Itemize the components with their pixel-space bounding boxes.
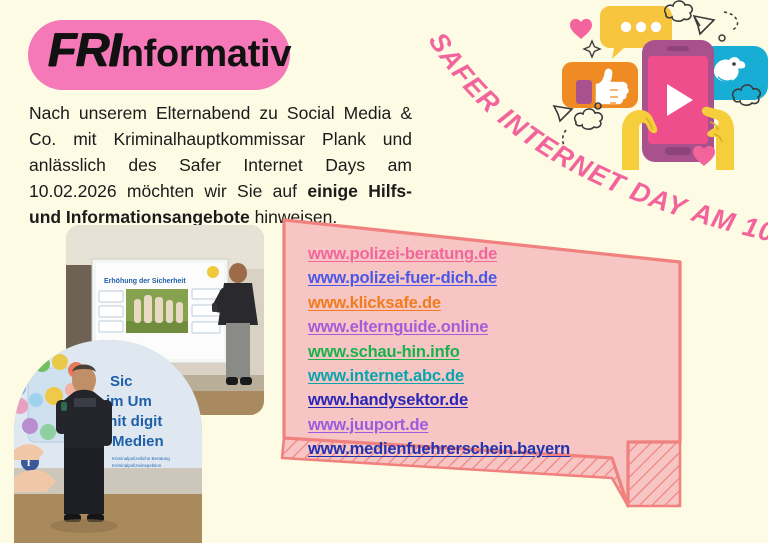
link-polizei-fuer-dich[interactable]: www.polizei-fuer-dich.de <box>308 266 638 290</box>
svg-text:Medien: Medien <box>112 433 164 450</box>
link-schau-hin[interactable]: www.schau-hin.info <box>308 340 638 364</box>
thumbs-up-icon <box>562 62 638 108</box>
svg-text:im Um: im Um <box>106 393 152 410</box>
svg-text:Sic: Sic <box>110 373 133 390</box>
svg-text:Kriminalpolizeiliche Beratung: Kriminalpolizeiliche Beratung <box>112 456 170 461</box>
brand-logo-text: FRInformativ <box>48 26 291 73</box>
link-polizei-beratung[interactable]: www.polizei-beratung.de <box>308 242 638 266</box>
svg-text:Erhöhung der Sicherheit: Erhöhung der Sicherheit <box>104 278 186 285</box>
svg-text:mit digit: mit digit <box>104 413 162 430</box>
logo-fri-part: FRI <box>48 23 121 76</box>
link-medienfuehrerschein[interactable]: www.medienfuehrerschein.bayern <box>308 437 638 461</box>
link-elternguide[interactable]: www.elternguide.online <box>308 315 638 339</box>
photo-police-officer-presenting: f Sic im Um mit digit Medien Kriminalpol… <box>14 340 202 543</box>
logo-informativ-part: nformativ <box>121 33 291 75</box>
sparkle-icon <box>584 41 600 57</box>
cloud-icon <box>575 109 603 129</box>
link-juuport[interactable]: www.juuport.de <box>308 413 638 437</box>
dashed-swoosh <box>563 130 572 152</box>
social-media-smartphone-illustration <box>548 0 768 174</box>
link-handysektor[interactable]: www.handysektor.de <box>308 388 638 412</box>
dashed-swoosh <box>724 12 738 30</box>
paper-plane-icon <box>554 106 572 121</box>
paper-plane-icon <box>694 16 714 34</box>
link-klicksafe[interactable]: www.klicksafe.de <box>308 291 638 315</box>
links-speech-bubble: www.polizei-beratung.de www.polizei-fuer… <box>276 206 696 526</box>
heart-icon <box>570 19 592 39</box>
svg-text:Kriminalpolizeiinspektion: Kriminalpolizeiinspektion <box>112 463 162 468</box>
link-internet-abc[interactable]: www.internet.abc.de <box>308 364 638 388</box>
link-list: www.polizei-beratung.de www.polizei-fuer… <box>308 242 638 462</box>
poster-canvas: FRInformativ Nach unserem Elternabend zu… <box>0 0 768 543</box>
